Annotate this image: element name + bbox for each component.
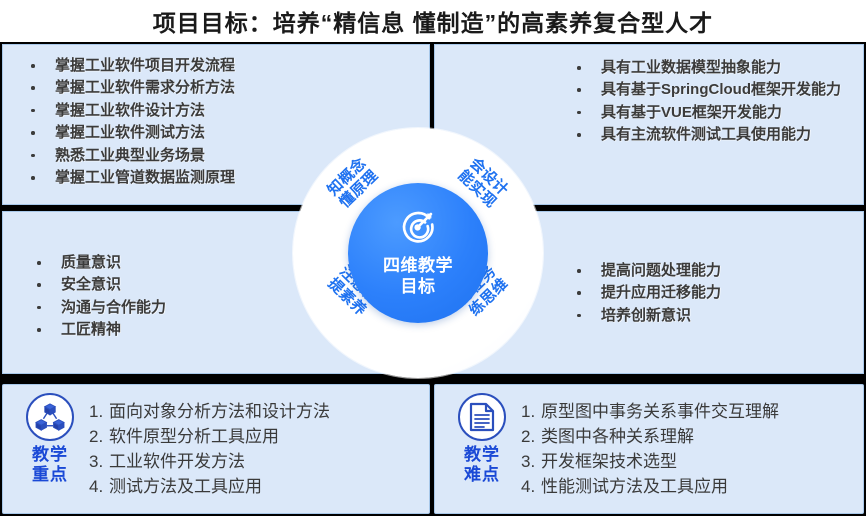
teaching-focus-tag: 教学 重点 (32, 445, 68, 485)
item-text: 性能测试方法及工具应用 (541, 477, 728, 496)
item-text: 原型图中事务关系事件交互理解 (541, 402, 779, 421)
list-item: 掌握工业软件设计方法 (29, 100, 329, 122)
teaching-difficulty-list: 1.原型图中事务关系事件交互理解 2.类图中各种关系理解 3.开发框架技术选型 … (521, 399, 853, 499)
slide-root: 项目目标：培养“精信息 懂制造”的高素养复合型人才 掌握工业软件项目开发流程 掌… (0, 0, 866, 516)
item-number: 2. (89, 424, 109, 449)
item-number: 1. (89, 399, 109, 424)
item-number: 4. (89, 474, 109, 499)
item-text: 测试方法及工具应用 (109, 477, 262, 496)
item-number: 2. (521, 424, 541, 449)
list-item: 提高问题处理能力 (575, 260, 860, 282)
quadrant-top-left: 掌握工业软件项目开发流程 掌握工业软件需求分析方法 掌握工业软件设计方法 掌握工… (2, 44, 430, 205)
list-item: 培养创新意识 (575, 305, 860, 327)
item-number: 1. (521, 399, 541, 424)
tag-line1: 教学 (464, 445, 500, 465)
list-item: 提升应用迁移能力 (575, 282, 860, 304)
list-item: 1.原型图中事务关系事件交互理解 (521, 399, 853, 424)
list-item: 掌握工业软件测试方法 (29, 122, 329, 144)
tag-line2: 重点 (32, 465, 68, 485)
quadrant-bottom-right: 提高问题处理能力 提升应用迁移能力 培养创新意识 (434, 211, 864, 374)
item-text: 面向对象分析方法和设计方法 (109, 402, 330, 421)
title-bar: 项目目标：培养“精信息 懂制造”的高素养复合型人才 (0, 0, 866, 42)
quadrant-bottom-left-list: 质量意识 安全意识 沟通与合作能力 工匠精神 (35, 252, 335, 342)
item-text: 工业软件开发方法 (109, 452, 245, 471)
list-item: 工匠精神 (35, 319, 335, 341)
item-text: 类图中各种关系理解 (541, 427, 694, 446)
list-item: 4.测试方法及工具应用 (89, 474, 419, 499)
list-item: 3.工业软件开发方法 (89, 449, 419, 474)
teaching-difficulty-box: 教学 难点 1.原型图中事务关系事件交互理解 2.类图中各种关系理解 3.开发框… (434, 384, 864, 514)
list-item: 具有工业数据模型抽象能力 (575, 57, 860, 79)
item-number: 3. (89, 449, 109, 474)
list-item: 2.类图中各种关系理解 (521, 424, 853, 449)
module-cubes-icon (26, 393, 74, 441)
list-item: 3.开发框架技术选型 (521, 449, 853, 474)
list-item: 安全意识 (35, 274, 335, 296)
list-item: 2.软件原型分析工具应用 (89, 424, 419, 449)
quadrant-bottom-left: 质量意识 安全意识 沟通与合作能力 工匠精神 (2, 211, 430, 374)
list-item: 4.性能测试方法及工具应用 (521, 474, 853, 499)
list-item: 质量意识 (35, 252, 335, 274)
item-text: 软件原型分析工具应用 (109, 427, 279, 446)
page-title: 项目目标：培养“精信息 懂制造”的高素养复合型人才 (153, 4, 713, 38)
list-item: 具有主流软件测试工具使用能力 (575, 124, 860, 146)
quadrant-top-left-list: 掌握工业软件项目开发流程 掌握工业软件需求分析方法 掌握工业软件设计方法 掌握工… (29, 55, 329, 189)
quadrant-top-right: 具有工业数据模型抽象能力 具有基于SpringCloud框架开发能力 具有基于V… (434, 44, 864, 205)
item-number: 4. (521, 474, 541, 499)
list-item: 具有基于VUE框架开发能力 (575, 102, 860, 124)
list-item: 掌握工业管道数据监测原理 (29, 167, 329, 189)
tag-line1: 教学 (32, 445, 68, 465)
document-icon (458, 393, 506, 441)
list-item: 1.面向对象分析方法和设计方法 (89, 399, 419, 424)
list-item: 熟悉工业典型业务场景 (29, 145, 329, 167)
list-item: 沟通与合作能力 (35, 297, 335, 319)
teaching-focus-icon-col: 教学 重点 (15, 393, 85, 485)
teaching-focus-box: 教学 重点 1.面向对象分析方法和设计方法 2.软件原型分析工具应用 3.工业软… (2, 384, 430, 514)
bottom-boxes: 教学 重点 1.面向对象分析方法和设计方法 2.软件原型分析工具应用 3.工业软… (0, 384, 866, 516)
teaching-focus-list: 1.面向对象分析方法和设计方法 2.软件原型分析工具应用 3.工业软件开发方法 … (89, 399, 419, 499)
list-item: 具有基于SpringCloud框架开发能力 (575, 79, 860, 101)
teaching-difficulty-icon-col: 教学 难点 (447, 393, 517, 485)
item-text: 开发框架技术选型 (541, 452, 677, 471)
quadrant-grid: 掌握工业软件项目开发流程 掌握工业软件需求分析方法 掌握工业软件设计方法 掌握工… (0, 44, 866, 376)
tag-line2: 难点 (464, 465, 500, 485)
list-item: 掌握工业软件需求分析方法 (29, 77, 329, 99)
item-number: 3. (521, 449, 541, 474)
teaching-difficulty-tag: 教学 难点 (464, 445, 500, 485)
quadrant-bottom-right-list: 提高问题处理能力 提升应用迁移能力 培养创新意识 (575, 260, 860, 327)
quadrant-top-right-list: 具有工业数据模型抽象能力 具有基于SpringCloud框架开发能力 具有基于V… (575, 57, 860, 147)
list-item: 掌握工业软件项目开发流程 (29, 55, 329, 77)
